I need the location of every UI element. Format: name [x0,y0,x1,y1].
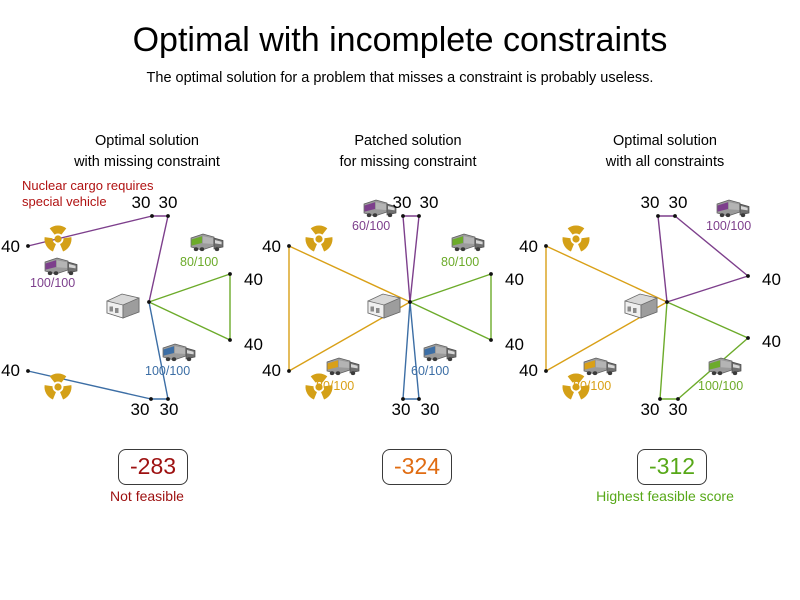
route-diagram: 60/10080/10060/10080/1004040303030304040 [273,170,543,430]
route-node [544,369,548,373]
node-demand-label: 30 [669,193,688,212]
route-node [287,244,291,248]
depot-icon [625,294,657,318]
node-demand-label: 40 [762,270,781,289]
panel-optimal-missing-constraint: Optimal solution with missing constraint… [12,0,282,600]
node-demand-label: 40 [262,237,281,256]
truck-icon [709,358,741,375]
route-node [26,369,30,373]
node-demand-label: 40 [244,335,263,354]
panel-title: Optimal solution with missing constraint [12,131,282,173]
node-demand-label: 40 [762,332,781,351]
radiation-icon [306,226,333,252]
vehicle-load-label: 100/100 [145,364,190,378]
purple-route [403,216,419,302]
truck-icon [45,258,77,275]
panel-title: Optimal solution with all constraints [530,131,800,173]
route-node [408,300,412,304]
vehicle-load-label: 60/100 [411,364,449,378]
vehicle-load-label: 80/100 [573,379,611,393]
score-caption: Not feasible [0,488,297,504]
node-demand-label: 30 [669,400,688,419]
node-demand-label: 30 [393,193,412,212]
route-node [147,300,151,304]
node-demand-label: 40 [505,270,524,289]
route-node [417,214,421,218]
route-node [665,300,669,304]
vehicle-load-label: 80/100 [441,255,479,269]
truck-icon [163,344,195,361]
route-node [656,214,660,218]
node-demand-label: 30 [641,193,660,212]
route-diagram: 100/100100/10080/1004040303030304040 [530,170,800,430]
node-demand-label: 40 [505,335,524,354]
vehicle-load-label: 100/100 [698,379,743,393]
route-node [166,214,170,218]
panel-optimal-all-constraints: Optimal solution with all constraints100… [530,0,800,600]
blue-route [28,302,168,399]
radiation-icon [563,226,590,252]
route-node [228,272,232,276]
vehicle-load-label: 80/100 [316,379,354,393]
depot-icon [107,294,139,318]
route-node [228,338,232,342]
truck-icon [327,358,359,375]
route-node [544,244,548,248]
node-demand-label: 40 [244,270,263,289]
route-diagram: 100/10080/100100/1004040303030304040 [12,170,282,430]
truck-icon [584,358,616,375]
score-badge: -312 [637,449,707,485]
node-demand-label: 30 [641,400,660,419]
route-node [746,336,750,340]
vehicle-load-label: 100/100 [30,276,75,290]
node-demand-label: 40 [519,361,538,380]
radiation-icon [45,226,72,252]
figure-root: Optimal with incomplete constraints The … [0,0,800,600]
node-demand-label: 30 [421,400,440,419]
panel-title: Patched solution for missing constraint [273,131,543,173]
route-node [401,214,405,218]
node-demand-label: 30 [392,400,411,419]
route-node [287,369,291,373]
node-demand-label: 40 [519,237,538,256]
node-demand-label: 30 [420,193,439,212]
green-route [410,274,491,340]
vehicle-load-label: 60/100 [352,219,390,233]
score-caption: Highest feasible score [515,488,800,504]
radiation-icon [45,374,72,400]
route-node [150,214,154,218]
blue-route [403,302,419,399]
node-demand-label: 40 [1,361,20,380]
node-demand-label: 40 [1,237,20,256]
score-badge: -324 [382,449,452,485]
route-node [673,214,677,218]
node-demand-label: 30 [131,400,150,419]
vehicle-load-label: 100/100 [706,219,751,233]
truck-icon [191,234,223,251]
depot-icon [368,294,400,318]
route-node [489,338,493,342]
node-demand-label: 30 [132,193,151,212]
node-demand-label: 30 [159,193,178,212]
route-node [26,244,30,248]
node-demand-label: 40 [262,361,281,380]
route-node [149,397,153,401]
panel-patched-solution: Patched solution for missing constraint6… [273,0,543,600]
green-route [149,274,230,340]
truck-icon [424,344,456,361]
score-badge: -283 [118,449,188,485]
truck-icon [364,200,396,217]
vehicle-load-label: 80/100 [180,255,218,269]
route-node [746,274,750,278]
truck-icon [452,234,484,251]
node-demand-label: 30 [160,400,179,419]
truck-icon [717,200,749,217]
route-node [489,272,493,276]
